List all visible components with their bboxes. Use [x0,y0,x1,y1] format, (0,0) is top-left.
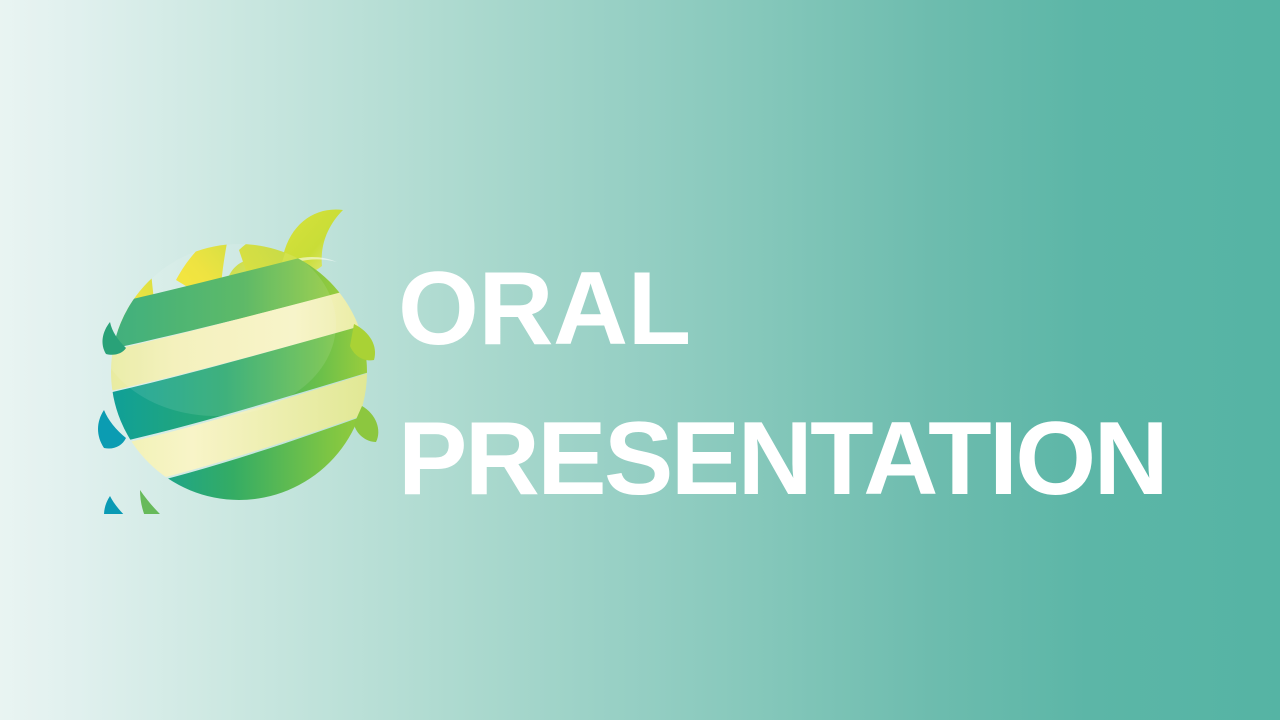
presentation-slide: ORAL PRESENTATION [0,0,1280,720]
title-line-2: PRESENTATION [398,384,1218,534]
slide-title: ORAL PRESENTATION [398,234,1218,534]
globe-ribbon-leaf-logo [96,204,382,514]
title-line-1: ORAL [398,234,1218,384]
